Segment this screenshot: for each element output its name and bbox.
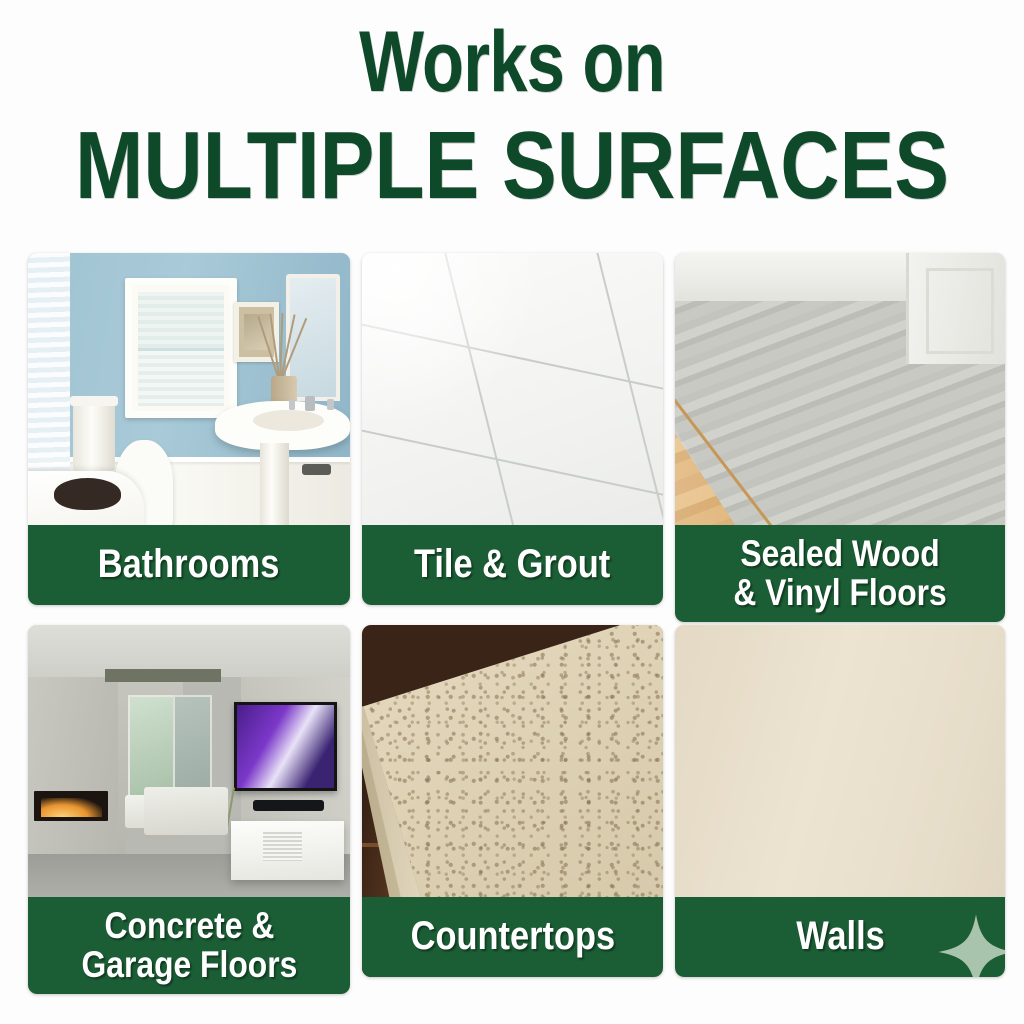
surface-label-text: Countertops — [410, 916, 614, 958]
surface-label-text: Bathrooms — [98, 544, 280, 586]
surface-label-countertops: Countertops — [362, 897, 663, 977]
surface-card-sealed-wood-vinyl[interactable]: Sealed Wood & Vinyl Floors — [675, 253, 1005, 622]
surface-card-tile-grout[interactable]: Tile & Grout — [362, 253, 663, 605]
surface-card-concrete-garage[interactable]: Concrete & Garage Floors — [28, 625, 350, 994]
surface-label-concrete-garage: Concrete & Garage Floors — [28, 897, 350, 994]
surface-label-text: Tile & Grout — [414, 544, 610, 586]
surface-label-text: Concrete & Garage Floors — [81, 907, 297, 984]
surface-label-walls: Walls — [675, 897, 1005, 977]
surface-label-tile-grout: Tile & Grout — [362, 525, 663, 605]
surface-label-text: Walls — [796, 916, 885, 958]
surface-label-sealed-wood-vinyl: Sealed Wood & Vinyl Floors — [675, 525, 1005, 622]
surface-card-walls[interactable]: Walls — [675, 625, 1005, 977]
surface-card-countertops[interactable]: Countertops — [362, 625, 663, 977]
surfaces-grid: Bathrooms Tile & Grout — [0, 0, 1024, 1024]
surface-label-text: Sealed Wood & Vinyl Floors — [733, 535, 946, 612]
surface-card-bathrooms[interactable]: Bathrooms — [28, 253, 350, 605]
surface-label-bathrooms: Bathrooms — [28, 525, 350, 605]
sparkle-icon — [937, 913, 1005, 977]
